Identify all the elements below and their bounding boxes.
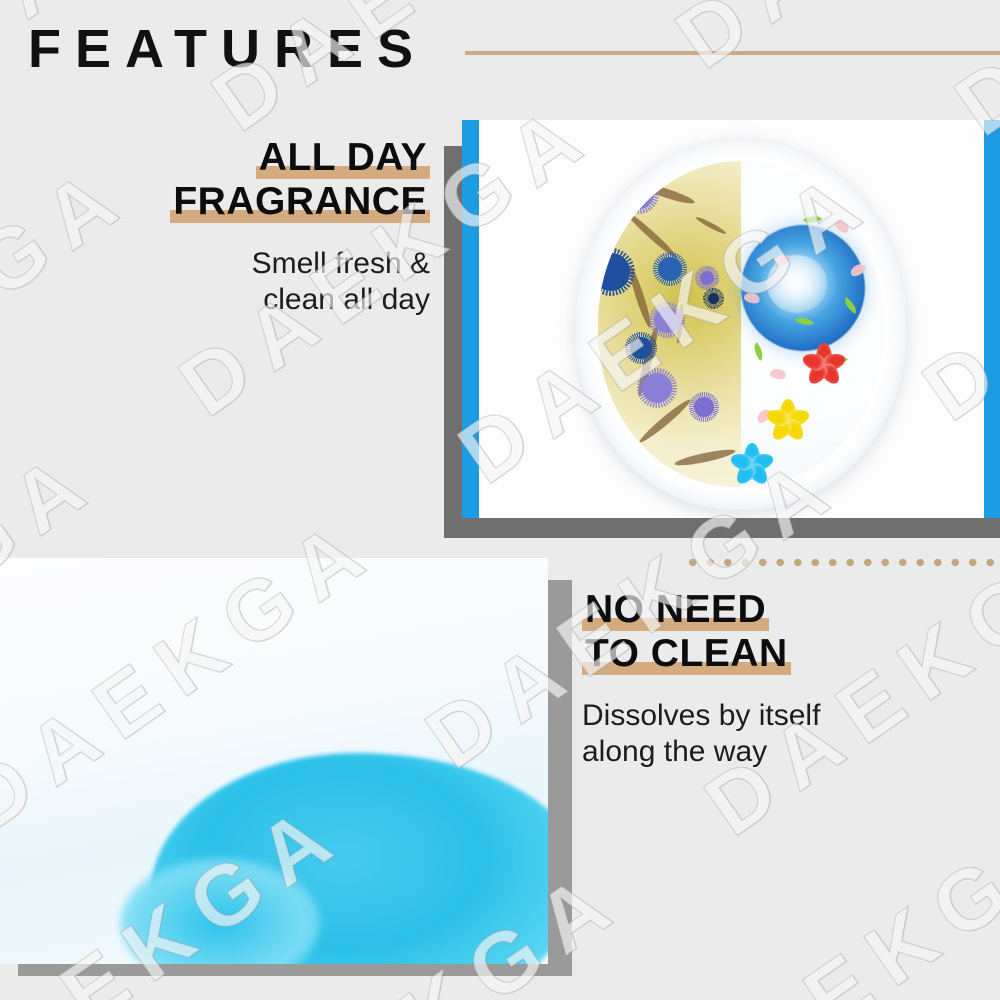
feature-body-line2: along the way [582, 734, 982, 770]
germ-icon [658, 257, 682, 281]
page-header: FEATURES [28, 18, 427, 80]
feature-heading-line2: FRAGRANCE [40, 180, 430, 224]
toilet-bowl-basin [598, 161, 884, 487]
germ-icon [624, 179, 654, 209]
blue-accent-stripe-right [984, 120, 1000, 518]
toilet-photo-inner [479, 120, 984, 518]
germ-icon [642, 373, 672, 403]
feature-body-line1: Smell fresh & [40, 246, 430, 282]
germ-icon [598, 253, 630, 291]
germ-icon [708, 293, 719, 304]
feature-heading-line1: NO NEED [582, 588, 982, 632]
feature-block-no-need-to-clean: NO NEED TO CLEAN Dissolves by itself alo… [582, 588, 982, 770]
germ-icon [694, 397, 714, 417]
feature-heading-line2: TO CLEAN [582, 632, 982, 676]
feature-block-all-day-fragrance: ALL DAY FRAGRANCE Smell fresh & clean al… [40, 136, 430, 318]
germ-icon [700, 271, 714, 285]
infographic-page: FEATURES ALL DAY FRAGRANCE Smell fresh &… [0, 0, 1000, 1000]
germ-icon [630, 337, 652, 359]
toilet-bowl-photo [462, 120, 1000, 518]
feature-body: Dissolves by itself along the way [582, 698, 982, 770]
header-rule [465, 51, 1000, 55]
feature-heading-line2-text: FRAGRANCE [170, 180, 430, 223]
feature-body: Smell fresh & clean all day [40, 246, 430, 318]
feature-heading-line1: ALL DAY [40, 136, 430, 180]
page-title: FEATURES [28, 18, 427, 80]
feature-heading-line2-text: TO CLEAN [582, 632, 791, 675]
water-swirl [741, 225, 865, 351]
feature-heading-line1-text: ALL DAY [256, 136, 430, 179]
hand-applicator-photo [0, 558, 548, 964]
feature-body-line2: clean all day [40, 282, 430, 318]
gel-flower-blue [732, 443, 772, 483]
toilet-bowl-outline [575, 138, 907, 510]
gel-flower-yellow [768, 399, 808, 439]
dotted-divider [684, 558, 1000, 567]
feature-heading-line1-text: NO NEED [582, 588, 769, 631]
feature-body-line1: Dissolves by itself [582, 698, 982, 734]
germ-icon [654, 307, 680, 333]
gel-flower-red [804, 343, 844, 383]
blue-accent-stripe-left [462, 120, 479, 518]
